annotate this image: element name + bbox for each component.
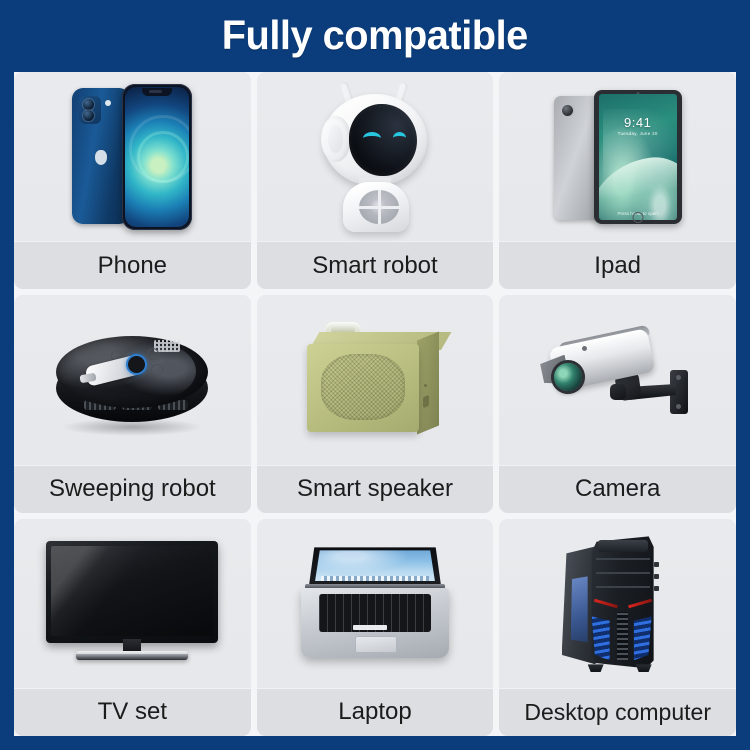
laptop-art: [257, 519, 494, 688]
robot-eye-right-icon: [393, 132, 406, 144]
device-label: Smart robot: [312, 254, 437, 278]
device-label: Desktop computer: [524, 701, 711, 724]
speaker-right-face: [417, 332, 439, 435]
camera-lower-joint-icon: [610, 384, 626, 400]
robot-eye-left-icon: [363, 132, 381, 145]
phone-notch-icon: [142, 88, 172, 96]
device-cell-ipad[interactable]: 9:41 Tuesday, June 20 Press home to open…: [499, 72, 736, 289]
device-label: Camera: [575, 477, 660, 501]
device-cell-laptop[interactable]: Laptop: [257, 519, 494, 736]
ipad-home-button-icon: [632, 212, 643, 223]
tv-set-art: [14, 519, 251, 688]
label-strip: Phone: [14, 241, 251, 289]
smart-speaker-icon: [299, 322, 451, 438]
title-bar: Fully compatible: [0, 0, 750, 70]
phone-art: [14, 72, 251, 241]
phone-logo-icon: [95, 150, 107, 165]
device-cell-smart-speaker[interactable]: Smart speaker: [257, 295, 494, 512]
sweeping-robot-art: [14, 295, 251, 464]
smart-speaker-art: [257, 295, 494, 464]
device-cell-smart-robot[interactable]: Smart robot: [257, 72, 494, 289]
laptop-dock-icon: [321, 576, 429, 581]
page-title: Fully compatible: [222, 15, 528, 56]
smart-robot-icon: [309, 82, 441, 232]
label-strip: Camera: [499, 465, 736, 513]
device-label: Phone: [98, 254, 167, 278]
camera-art: [499, 295, 736, 464]
label-strip: Smart robot: [257, 241, 494, 289]
phone-wallpaper-ring-inner: [137, 131, 189, 183]
phone-icon: [72, 84, 192, 230]
device-label: Sweeping robot: [49, 477, 216, 501]
device-label: Smart speaker: [297, 477, 453, 501]
speaker-grille-icon: [321, 354, 405, 420]
device-cell-phone[interactable]: Phone: [14, 72, 251, 289]
tower-foot-icon: [588, 664, 604, 672]
tv-stand-highlight: [76, 651, 188, 654]
tv-set-icon: [46, 541, 218, 665]
device-grid: Phone: [14, 72, 736, 736]
label-strip: Sweeping robot: [14, 465, 251, 513]
ipad-screen: 9:41 Tuesday, June 20 Press home to open: [599, 94, 677, 220]
phone-screen: [125, 87, 189, 227]
tower-side-window-icon: [571, 576, 588, 642]
desktop-computer-art: [499, 519, 736, 688]
device-cell-desktop-computer[interactable]: Desktop computer: [499, 519, 736, 736]
desktop-computer-icon: [562, 532, 674, 674]
camera-screw-icon: [582, 346, 587, 351]
device-cell-camera[interactable]: Camera: [499, 295, 736, 512]
device-cell-tv-set[interactable]: TV set: [14, 519, 251, 736]
laptop-spacebar-icon: [353, 625, 387, 630]
laptop-icon: [297, 547, 453, 659]
speaker-indicator-icon: [424, 384, 427, 387]
tower-bay-line-icon: [596, 572, 650, 574]
speaker-front-face: [307, 344, 419, 432]
label-strip: Smart speaker: [257, 465, 494, 513]
tv-screen: [51, 546, 213, 636]
camera-icon: [538, 322, 698, 438]
tower-center-grill-icon: [617, 612, 628, 660]
phone-front-icon: [122, 84, 192, 230]
ipad-lockscreen-time: 9:41: [599, 115, 677, 130]
tower-bay-line-icon: [596, 586, 650, 588]
label-strip: Laptop: [257, 688, 494, 736]
robot-ear-icon: [321, 116, 351, 162]
robot-dpad-horizontal-icon: [359, 206, 399, 209]
tower-bay-line-icon: [596, 558, 650, 560]
device-cell-sweeping-robot[interactable]: Sweeping robot: [14, 295, 251, 512]
ipad-icon: 9:41 Tuesday, June 20 Press home to open: [554, 90, 682, 224]
smart-robot-art: [257, 72, 494, 241]
phone-camera-icon: [79, 96, 101, 124]
label-strip: Desktop computer: [499, 688, 736, 736]
tower-foot-icon: [636, 664, 652, 672]
compatibility-infographic: Fully compatible: [0, 0, 750, 750]
tower-port-icon: [654, 586, 659, 591]
phone-flash-icon: [105, 100, 111, 106]
device-label: Ipad: [594, 254, 641, 278]
laptop-trackpad-icon: [355, 636, 397, 653]
robot-face-icon: [349, 104, 417, 176]
tv-bezel-icon: [46, 541, 218, 643]
sweeping-robot-icon: [50, 324, 214, 436]
label-strip: Ipad: [499, 241, 736, 289]
ipad-art: 9:41 Tuesday, June 20 Press home to open: [499, 72, 736, 241]
ipad-lockscreen-date: Tuesday, June 20: [599, 131, 677, 136]
label-strip: TV set: [14, 688, 251, 736]
device-label: TV set: [98, 700, 167, 724]
tower-port-icon: [654, 574, 659, 579]
tower-top-vent-icon: [598, 540, 648, 552]
device-label: Laptop: [338, 700, 411, 724]
tower-port-icon: [654, 562, 659, 567]
ipad-camera-icon: [562, 105, 573, 116]
ipad-front-icon: 9:41 Tuesday, June 20 Press home to open: [594, 90, 682, 224]
